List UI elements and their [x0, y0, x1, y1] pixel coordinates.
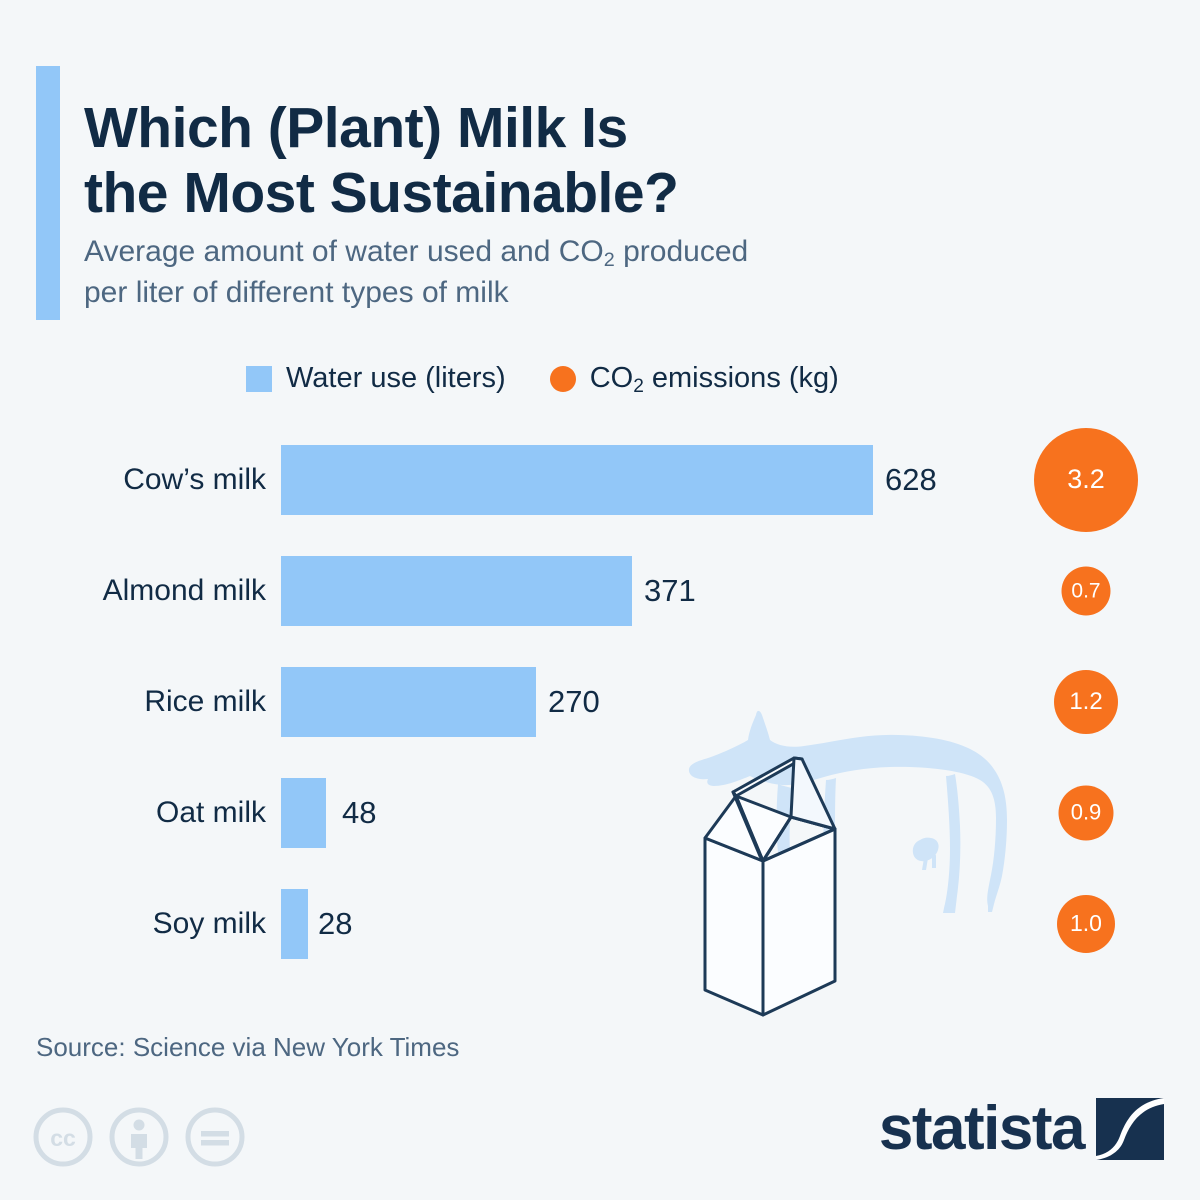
co2-bubble-rice-milk: 1.2	[1054, 670, 1118, 734]
subtitle-line-2: per liter of different types of milk	[84, 273, 1044, 314]
table-row[interactable]: Almond milk 371 0.7	[0, 535, 1200, 646]
water-value-almond-milk: 371	[644, 573, 696, 609]
legend-item-co2-emissions[interactable]: CO2 emissions (kg)	[550, 362, 839, 395]
co2-swatch-icon	[550, 366, 576, 392]
co2-bubble-almond-milk: 0.7	[1062, 566, 1111, 615]
table-row[interactable]: Oat milk 48 0.9	[0, 757, 1200, 868]
infographic-root: Which (Plant) Milk Is the Most Sustainab…	[0, 0, 1200, 1200]
title-accent-bar	[36, 66, 60, 320]
creative-commons-icon: cc	[32, 1106, 94, 1168]
water-value-cows-milk: 628	[885, 462, 937, 498]
row-label-soy-milk: Soy milk	[40, 907, 266, 941]
water-bar-cows-milk	[281, 445, 873, 515]
water-value-rice-milk: 270	[548, 684, 600, 720]
page-title: Which (Plant) Milk Is the Most Sustainab…	[84, 96, 1044, 226]
statista-logo[interactable]: statista	[879, 1098, 1164, 1160]
row-label-rice-milk: Rice milk	[40, 685, 266, 719]
subtitle-text-a: Average amount of water used and CO	[84, 235, 604, 268]
water-value-oat-milk: 48	[342, 795, 376, 831]
no-derivatives-equals-icon	[184, 1106, 246, 1168]
water-value-soy-milk: 28	[318, 906, 352, 942]
row-label-almond-milk: Almond milk	[40, 574, 266, 608]
table-row[interactable]: Soy milk 28 1.0	[0, 868, 1200, 979]
legend-co2-subscript: 2	[633, 376, 644, 397]
row-label-oat-milk: Oat milk	[40, 796, 266, 830]
legend-label-water-use: Water use (liters)	[286, 362, 506, 395]
table-row[interactable]: Rice milk 270 1.2	[0, 646, 1200, 757]
water-bar-oat-milk	[281, 778, 326, 848]
water-swatch-icon	[246, 366, 272, 392]
table-row[interactable]: Cow’s milk 628 3.2	[0, 424, 1200, 535]
co2-bubble-soy-milk: 1.0	[1057, 895, 1115, 953]
co2-bubble-oat-milk: 0.9	[1059, 785, 1114, 840]
svg-text:cc: cc	[50, 1125, 76, 1151]
title-line-1: Which (Plant) Milk Is	[84, 96, 1044, 161]
creative-commons-license-icons: cc	[32, 1106, 246, 1168]
attribution-person-icon	[108, 1106, 170, 1168]
legend-co2-text-b: emissions (kg)	[644, 362, 839, 394]
subtitle-line-1: Average amount of water used and CO2 pro…	[84, 232, 1044, 273]
title-line-2: the Most Sustainable?	[84, 161, 1044, 226]
page-subtitle: Average amount of water used and CO2 pro…	[84, 232, 1044, 314]
subtitle-subscript: 2	[604, 249, 615, 271]
co2-bubble-cows-milk: 3.2	[1034, 428, 1138, 532]
statista-wordmark: statista	[879, 1098, 1084, 1160]
statista-mark-icon	[1096, 1098, 1164, 1160]
chart-legend: Water use (liters) CO2 emissions (kg)	[246, 362, 839, 395]
source-note: Source: Science via New York Times	[36, 1032, 459, 1063]
water-bar-almond-milk	[281, 556, 632, 626]
chart-area: Cow’s milk 628 3.2 Almond milk 371 0.7 R…	[0, 424, 1200, 979]
subtitle-text-b: produced	[615, 235, 748, 268]
legend-item-water-use[interactable]: Water use (liters)	[246, 362, 506, 395]
legend-label-co2-emissions: CO2 emissions (kg)	[590, 362, 839, 395]
water-bar-rice-milk	[281, 667, 536, 737]
row-label-cows-milk: Cow’s milk	[40, 463, 266, 497]
legend-co2-text-a: CO	[590, 362, 634, 394]
water-bar-soy-milk	[281, 889, 308, 959]
